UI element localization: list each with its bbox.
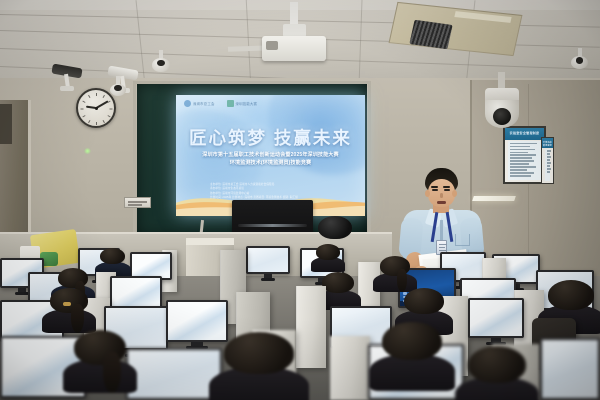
wall-light-fixture [472,196,516,201]
slide-subtitle-line-2: 环境监测技术(环境监测员)技能竞赛 [190,159,351,167]
notice-header: 实验室安全管理制度 [505,131,544,135]
slide-title: 匠心筑梦 技赢未来 [176,125,365,150]
notice-board: 实验室安全管理制度 [503,126,546,184]
leaf-emblem-icon: 深圳技能大赛 [227,100,258,107]
wall-clock [76,88,116,128]
slide-subtitle: 深圳市第十五届职工技术创新运动会暨2025年深圳技能大赛 环境监测技术(环境监测… [190,151,351,168]
projection-screen: 深圳市总工会 深圳技能大赛 匠心筑梦 技赢未来 深圳市第十五届职工技术创新运动会… [176,95,365,216]
desk-partition [296,286,326,368]
candidate [50,288,88,328]
candidate-monitor[interactable] [246,246,290,274]
candidate [224,332,294,400]
wall-sign [124,197,151,208]
candidate-monitor[interactable] [540,338,600,400]
clock-minute-hand [96,100,109,108]
slide-logo-label: 深圳技能大赛 [236,101,258,106]
circle-emblem-icon: 深圳市总工会 [184,100,215,107]
dome-camera-icon [152,50,170,70]
candidate [74,330,126,386]
ptz-camera-lens-icon [493,108,511,125]
slide-logo-row: 深圳市总工会 深圳技能大赛 [184,100,257,107]
projector-lens-icon [266,41,278,50]
candidate-monitor[interactable] [468,298,524,338]
door-opening[interactable] [0,104,12,144]
candidate [316,244,340,269]
candidate [322,272,354,306]
laser-pointer-dot [84,148,91,154]
slide-subtitle-line-1: 深圳市第十五届职工技术创新运动会暨2025年深圳技能大赛 [190,151,351,159]
screenshot-root: 实验室安全管理制度 计算机房使用规定 [0,0,600,400]
candidate-monitor[interactable] [126,348,222,400]
dome-camera-icon [571,48,588,67]
notice-board: 计算机房使用规定 [541,137,554,184]
air-vent-slot-icon [409,20,452,50]
candidate [380,256,410,288]
notice-header: 计算机房使用规定 [542,141,553,147]
sphere-object-icon [318,216,352,239]
door-edge [28,100,31,250]
candidate [100,248,125,274]
slide-logo-label: 深圳市总工会 [193,101,215,106]
candidate [468,346,526,400]
dome-camera-icon [110,76,126,94]
air-vent-icon [389,2,523,56]
candidate [382,322,442,384]
desk-partition [330,336,370,400]
candidate-monitor[interactable] [166,300,228,342]
